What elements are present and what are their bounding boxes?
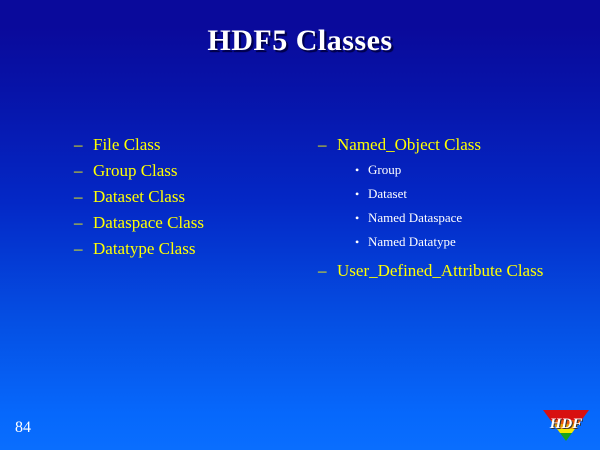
page-number: 84 <box>15 418 31 438</box>
sub-list-item-label: Named Dataspace <box>368 208 462 228</box>
list-item-label: Dataspace Class <box>93 212 204 234</box>
dash-bullet-icon: – <box>74 212 93 234</box>
sub-list-item: • Group <box>318 160 598 184</box>
sub-list-item-label: Group <box>368 160 401 180</box>
list-item-label: Group Class <box>93 160 178 182</box>
list-item: – Dataset Class <box>74 186 314 212</box>
list-item-label: Datatype Class <box>93 238 195 260</box>
dash-bullet-icon: – <box>74 186 93 208</box>
dot-bullet-icon: • <box>355 184 368 204</box>
sub-list-item: • Dataset <box>318 184 598 208</box>
dash-bullet-icon: – <box>74 134 93 156</box>
list-item-label: Dataset Class <box>93 186 185 208</box>
list-item-label: User_Defined_Attribute Class <box>337 260 543 282</box>
bullet-list-right: – Named_Object Class • Group • Dataset •… <box>318 134 598 286</box>
hdf-logo-text: HDF <box>543 416 589 432</box>
dot-bullet-icon: • <box>355 160 368 180</box>
list-item-label: File Class <box>93 134 161 156</box>
list-item: – File Class <box>74 134 314 160</box>
dash-bullet-icon: – <box>318 260 337 282</box>
dash-bullet-icon: – <box>74 238 93 260</box>
page-title: HDF5 Classes <box>0 24 600 58</box>
dash-bullet-icon: – <box>74 160 93 182</box>
bullet-list-left: – File Class – Group Class – Dataset Cla… <box>74 134 314 264</box>
list-item-named-object: – Named_Object Class <box>318 134 598 160</box>
list-item-label: Named_Object Class <box>337 134 481 156</box>
sub-list-item: • Named Dataspace <box>318 208 598 232</box>
dot-bullet-icon: • <box>355 232 368 252</box>
list-item-user-defined-attribute: – User_Defined_Attribute Class <box>318 260 598 286</box>
dot-bullet-icon: • <box>355 208 368 228</box>
hdf-logo: HDF <box>543 410 589 441</box>
sub-list-item: • Named Datatype <box>318 232 598 256</box>
list-item: – Dataspace Class <box>74 212 314 238</box>
list-item: – Datatype Class <box>74 238 314 264</box>
sub-list-item-label: Named Datatype <box>368 232 456 252</box>
list-item: – Group Class <box>74 160 314 186</box>
dash-bullet-icon: – <box>318 134 337 156</box>
sub-list-item-label: Dataset <box>368 184 407 204</box>
slide-canvas: HDF5 Classes – File Class – Group Class … <box>0 0 600 450</box>
